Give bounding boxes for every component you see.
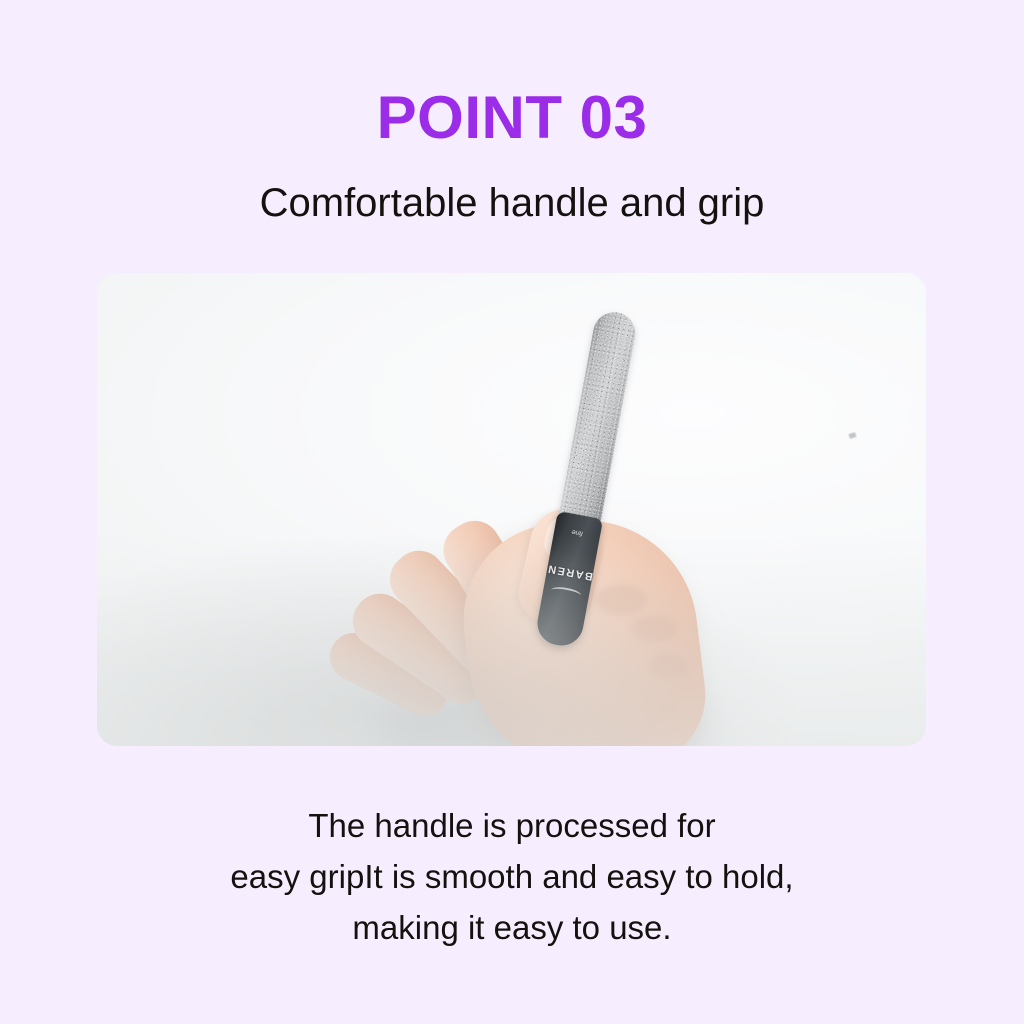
caption-line: making it easy to use. [0, 902, 1024, 953]
handle-sub-text: fine [571, 528, 583, 537]
product-feature-slide: POINT 03 Comfortable handle and grip fin… [0, 0, 1024, 1024]
handle-brand-text: BAREN [546, 562, 594, 582]
caption-block: The handle is processed for easy gripIt … [0, 800, 1024, 953]
knuckle [631, 615, 677, 643]
nail-file-abrasive-surface [558, 309, 639, 531]
knuckle [649, 653, 689, 679]
subheading: Comfortable handle and grip [0, 180, 1024, 226]
product-photo-card: fine BAREN [97, 273, 926, 746]
page-title: POINT 03 [0, 88, 1024, 148]
handle-swoosh-icon [550, 585, 581, 600]
caption-line: easy gripIt is smooth and easy to hold, [0, 851, 1024, 902]
caption-line: The handle is processed for [0, 800, 1024, 851]
photo-speck [848, 432, 856, 439]
